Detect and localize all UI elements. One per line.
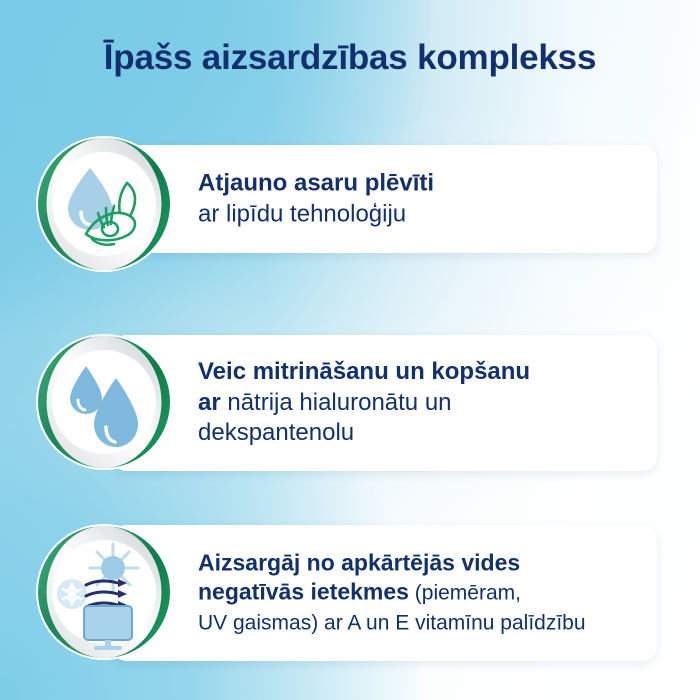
benefit-light-line-2: dekspantenolu: [198, 419, 354, 446]
eye-droplet-shield-icon: [34, 134, 174, 274]
benefit-card: Veic mitrināšanu un kopšanu ar nātrija h…: [112, 335, 657, 471]
benefit-light-line-2: UV gaismas) ar A un E vitamīnu palīdzību: [198, 612, 586, 635]
infographic-poster: Īpašs aizsardzības komplekss Atjauno asa…: [0, 0, 700, 700]
sun-snowflake-screen-shield-icon: [34, 522, 174, 662]
benefit-text: Atjauno asaru plēvīti ar lipīdu tehnoloģ…: [198, 168, 639, 229]
benefit-text: Aizsargāj no apkārtējās vides negatīvās …: [198, 548, 639, 637]
benefit-light-line: (piemēram,: [409, 582, 521, 605]
benefit-light-line: nātrija hialuronātu un: [221, 389, 452, 416]
benefit-card: Aizsargāj no apkārtējās vides negatīvās …: [112, 525, 657, 661]
two-droplets-shield-icon: [34, 332, 174, 472]
benefit-text: Veic mitrināšanu un kopšanu ar nātrija h…: [198, 357, 639, 449]
benefit-bold-line: Aizsargāj no apkārtējās vides: [198, 549, 520, 575]
benefit-light-line: ar lipīdu tehnoloģiju: [198, 200, 406, 227]
benefit-bold-line: Atjauno asaru plēvīti: [198, 169, 434, 196]
benefit-card: Atjauno asaru plēvīti ar lipīdu tehnoloģ…: [112, 145, 657, 253]
page-title: Īpašs aizsardzības komplekss: [0, 38, 700, 78]
benefit-bold-line: Veic mitrināšanu un kopšanu: [198, 358, 530, 385]
benefit-bold-inline: ar: [198, 389, 221, 416]
benefit-bold-inline: negatīvās ietekmes: [198, 579, 409, 605]
